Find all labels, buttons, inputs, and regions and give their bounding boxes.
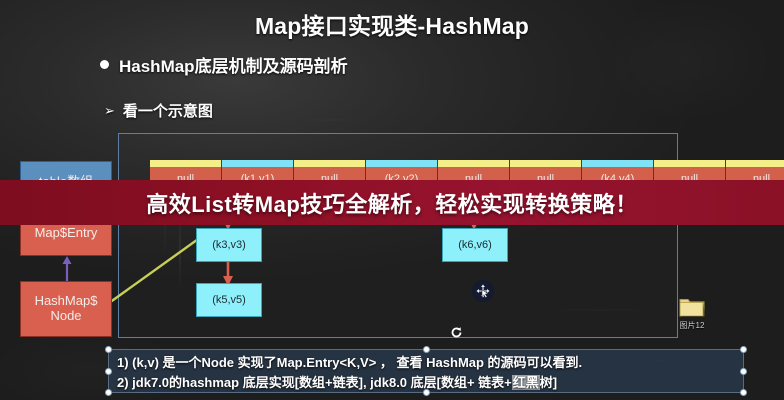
bucket-cap-2	[294, 160, 365, 167]
chevron-right-icon: ➢	[104, 104, 115, 117]
chain-node-k3[interactable]: (k3,v3)	[196, 228, 262, 262]
bullet-sub: ➢ 看一个示意图	[104, 100, 213, 121]
node-to-entry-arrow-icon	[60, 256, 74, 282]
k3-to-k5-arrow-icon	[220, 258, 236, 286]
resize-handle-bottom-right[interactable]	[740, 389, 747, 396]
resize-handle-bottom-middle[interactable]	[423, 389, 430, 396]
notes-textbox[interactable]: 1) (k,v) 是一个Node 实现了Map.Entry<K,V> ， 查看 …	[108, 349, 744, 393]
bucket-cap-7	[654, 160, 725, 167]
bucket-cap-5	[510, 160, 581, 167]
legend-box-hashmap-node[interactable]: HashMap$ Node	[20, 281, 112, 337]
page-title: Map接口实现类-HashMap	[0, 7, 784, 41]
note-line-1: 1) (k,v) 是一个Node 实现了Map.Entry<K,V> ， 查看 …	[117, 353, 735, 373]
bucket-cap-0	[150, 160, 221, 167]
chain-node-k6[interactable]: (k6,v6)	[442, 228, 508, 262]
resize-handle-top-middle[interactable]	[423, 346, 430, 353]
note-line-2-post: 树]	[540, 375, 557, 390]
folder-icon	[679, 296, 705, 318]
node-to-k3-connector-line	[100, 230, 210, 310]
bucket-cap-4	[438, 160, 509, 167]
bucket-cap-1	[222, 160, 293, 167]
hashmap-node-label-line2: Node	[35, 309, 98, 324]
bullet-main: HashMap底层机制及源码剖析	[100, 52, 348, 77]
slide-canvas: Map接口实现类-HashMap HashMap底层机制及源码剖析 ➢ 看一个示…	[0, 0, 784, 400]
move-cursor-badge[interactable]	[472, 280, 494, 302]
resize-handle-middle-right[interactable]	[740, 368, 747, 375]
resize-handle-top-left[interactable]	[105, 346, 112, 353]
bucket-cap-8	[726, 160, 784, 167]
promo-banner-text: 高效List转Map技巧全解析，轻松实现转换策略！	[146, 187, 638, 219]
desktop-folder-label: 图片12	[680, 320, 705, 331]
move-icon	[476, 284, 490, 298]
rotate-handle-icon[interactable]	[450, 326, 463, 339]
bullet-dot-icon	[100, 60, 109, 69]
promo-banner: 高效List转Map技巧全解析，轻松实现转换策略！	[0, 180, 784, 225]
desktop-folder-item[interactable]: 图片12	[672, 296, 712, 331]
bucket-cap-3	[366, 160, 437, 167]
resize-handle-top-right[interactable]	[740, 346, 747, 353]
resize-handle-bottom-left[interactable]	[105, 389, 112, 396]
bucket-cap-6	[582, 160, 653, 167]
bullet-main-label: HashMap底层机制及源码剖析	[119, 52, 348, 77]
note-line-2-highlight: 红黑	[512, 375, 540, 390]
resize-handle-middle-left[interactable]	[105, 368, 112, 375]
chain-node-k5[interactable]: (k5,v5)	[196, 283, 262, 317]
note-line-2-pre: 2) jdk7.0的hashmap 底层实现[数组+链表], jdk8.0 底层…	[117, 375, 512, 390]
bullet-sub-label: 看一个示意图	[123, 100, 213, 121]
hashmap-node-label-line1: HashMap$	[35, 294, 98, 309]
